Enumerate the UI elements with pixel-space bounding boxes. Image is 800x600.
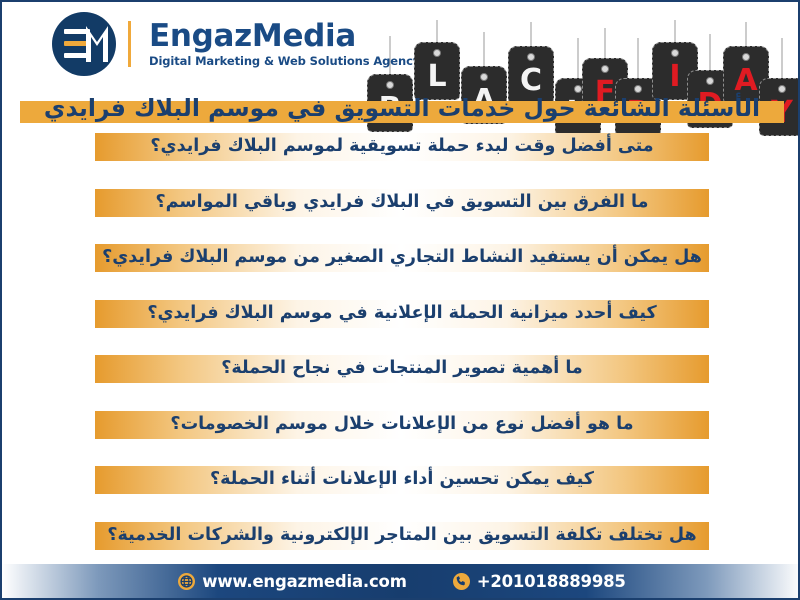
tag-string xyxy=(675,20,676,42)
tag-string xyxy=(782,38,783,78)
faq-question-text: هل تختلف تكلفة التسويق بين المتاجر الإلك… xyxy=(107,527,696,545)
faq-question-text: ما هو أفضل نوع من الإعلانات خلال موسم ال… xyxy=(170,416,633,434)
tag-hole xyxy=(527,53,535,61)
website-url: www.engazmedia.com xyxy=(202,572,406,591)
faq-question-text: ما الفرق بين التسويق في البلاك فرايدي وب… xyxy=(156,194,649,212)
brand-divider xyxy=(128,21,131,67)
tag-hole xyxy=(480,73,488,81)
faq-item[interactable]: هل يمكن أن يستفيد النشاط التجاري الصغير … xyxy=(95,244,709,272)
faq-question-text: كيف أحدد ميزانية الحملة الإعلانية في موس… xyxy=(147,305,656,323)
tag-letter: A xyxy=(734,66,757,96)
faq-item[interactable]: كيف أحدد ميزانية الحملة الإعلانية في موس… xyxy=(95,300,709,328)
engazmedia-em-monogram-icon xyxy=(52,12,116,76)
page-title: الأسئلة الشائعة حول خدمات التسويق في موس… xyxy=(2,94,800,122)
tag-string xyxy=(746,22,747,46)
tag-hole xyxy=(706,77,714,85)
tag-letter: I xyxy=(669,62,680,92)
faq-item[interactable]: كيف يمكن تحسين أداء الإعلانات أثناء الحم… xyxy=(95,466,709,494)
tag-body: L xyxy=(414,42,460,100)
tag-hole xyxy=(601,65,609,73)
faq-item[interactable]: متى أفضل وقت لبدء حملة تسويقية لموسم الب… xyxy=(95,133,709,161)
header: EngazMedia Digital Marketing & Web Solut… xyxy=(2,2,800,94)
faq-item[interactable]: ما أهمية تصوير المنتجات في نجاح الحملة؟ xyxy=(95,355,709,383)
tag-hole xyxy=(634,85,642,93)
tag-hole xyxy=(386,81,394,89)
tag-string xyxy=(390,36,391,74)
tag-hole xyxy=(742,53,750,61)
faq-question-text: متى أفضل وقت لبدء حملة تسويقية لموسم الب… xyxy=(150,138,653,156)
faq-item[interactable]: هل تختلف تكلفة التسويق بين المتاجر الإلك… xyxy=(95,522,709,550)
tag-hole xyxy=(671,49,679,57)
footer: www.engazmedia.com +201018889985 xyxy=(2,564,800,598)
tag-letter: L xyxy=(427,62,446,92)
faq-question-text: هل يمكن أن يستفيد النشاط التجاري الصغير … xyxy=(102,249,702,267)
tag-string xyxy=(638,38,639,78)
tag-string xyxy=(531,22,532,46)
black-friday-tags: B L A C xyxy=(367,0,787,98)
tag-hole xyxy=(778,85,786,93)
phone-icon xyxy=(453,573,470,590)
tag-string xyxy=(605,28,606,58)
infographic-canvas: EngazMedia Digital Marketing & Web Solut… xyxy=(0,0,800,600)
tag-hole xyxy=(433,49,441,57)
faq-question-text: كيف يمكن تحسين أداء الإعلانات أثناء الحم… xyxy=(210,471,594,489)
tag-string xyxy=(484,32,485,66)
phone-number: +201018889985 xyxy=(477,572,626,591)
logo-letter-m-icon xyxy=(85,26,109,62)
website-info[interactable]: www.engazmedia.com xyxy=(178,572,406,591)
tag-string xyxy=(578,38,579,78)
faq-list: متى أفضل وقت لبدء حملة تسويقية لموسم الب… xyxy=(2,133,800,600)
brand-lockup: EngazMedia Digital Marketing & Web Solut… xyxy=(52,12,420,76)
phone-info[interactable]: +201018889985 xyxy=(453,572,626,591)
tag-hole xyxy=(574,85,582,93)
tag-string xyxy=(710,34,711,70)
tag-string xyxy=(437,20,438,42)
faq-item[interactable]: ما هو أفضل نوع من الإعلانات خلال موسم ال… xyxy=(95,411,709,439)
globe-icon xyxy=(178,573,195,590)
faq-item[interactable]: ما الفرق بين التسويق في البلاك فرايدي وب… xyxy=(95,189,709,217)
tag-letter: C xyxy=(520,66,542,96)
faq-question-text: ما أهمية تصوير المنتجات في نجاح الحملة؟ xyxy=(221,360,583,378)
